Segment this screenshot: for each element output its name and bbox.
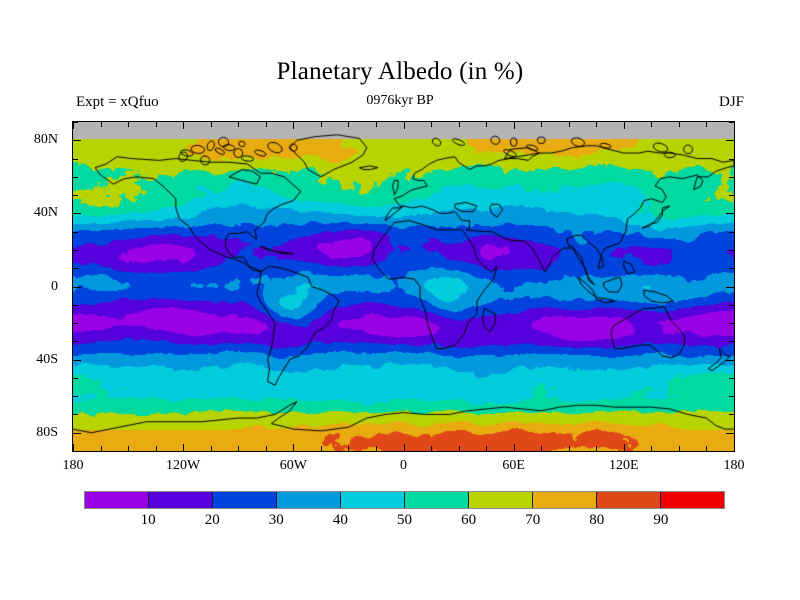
x-tick (431, 122, 432, 127)
x-tick (348, 446, 349, 451)
x-tick (541, 122, 542, 127)
x-tick (486, 122, 487, 127)
colorbar-tick-label: 80 (589, 512, 604, 529)
x-tick (596, 122, 597, 127)
y-tick (73, 250, 78, 251)
x-tick (651, 446, 652, 451)
y-tick (726, 213, 734, 214)
y-tick (73, 360, 81, 361)
y-axis-label: 80S (36, 425, 58, 441)
x-tick (486, 446, 487, 451)
x-tick (541, 446, 542, 451)
y-tick (729, 305, 734, 306)
y-tick (729, 177, 734, 178)
x-axis-label: 60W (280, 458, 307, 474)
y-tick (729, 250, 734, 251)
x-tick (183, 444, 184, 451)
x-tick (624, 444, 625, 451)
y-tick (729, 341, 734, 342)
x-axis-label: 60E (502, 458, 525, 474)
x-tick (321, 122, 322, 127)
y-tick (726, 360, 734, 361)
colorbar-tick-label: 20 (205, 512, 220, 529)
colorbar-band (533, 492, 597, 508)
y-tick (729, 396, 734, 397)
x-tick (651, 122, 652, 127)
x-tick (266, 122, 267, 127)
y-tick (73, 195, 78, 196)
y-tick (73, 341, 78, 342)
page-title: Planetary Albedo (in %) (0, 58, 800, 86)
x-axis-label: 0 (400, 458, 407, 474)
colorbar-band (213, 492, 277, 508)
x-axis-label: 180 (724, 458, 745, 474)
x-tick (431, 446, 432, 451)
x-tick (734, 444, 735, 451)
y-tick (73, 305, 78, 306)
x-tick (238, 122, 239, 127)
x-tick (156, 446, 157, 451)
y-tick (729, 323, 734, 324)
y-axis-label: 40N (34, 205, 58, 221)
y-tick (73, 414, 78, 415)
x-tick (569, 122, 570, 127)
x-tick (679, 446, 680, 451)
x-tick (238, 446, 239, 451)
y-tick (729, 195, 734, 196)
x-tick (706, 122, 707, 127)
x-tick (183, 122, 184, 129)
y-tick (73, 177, 78, 178)
y-axis-label: 0 (51, 279, 58, 295)
y-tick (73, 159, 78, 160)
colorbar-tick-label: 10 (141, 512, 156, 529)
x-tick (679, 122, 680, 127)
x-axis-label: 120E (609, 458, 639, 474)
colorbar-band (469, 492, 533, 508)
x-axis-label: 120W (166, 458, 200, 474)
x-tick (706, 446, 707, 451)
y-tick (73, 396, 78, 397)
x-tick (321, 446, 322, 451)
x-tick (404, 122, 405, 129)
x-tick (73, 122, 74, 129)
y-tick (73, 268, 78, 269)
colorbar-band (661, 492, 724, 508)
x-tick (348, 122, 349, 127)
experiment-label: Expt = xQfuo (76, 94, 159, 111)
x-tick (596, 446, 597, 451)
y-tick (73, 287, 81, 288)
x-tick (101, 122, 102, 127)
colorbar-tick-label: 60 (461, 512, 476, 529)
colorbar (84, 491, 725, 509)
albedo-map-canvas (73, 122, 734, 451)
x-tick (734, 122, 735, 129)
colorbar-band (149, 492, 213, 508)
y-tick (729, 378, 734, 379)
y-axis-label: 40S (36, 352, 58, 368)
y-tick (73, 433, 81, 434)
y-tick (73, 122, 78, 123)
x-tick (293, 122, 294, 129)
x-tick (101, 446, 102, 451)
colorbar-band (277, 492, 341, 508)
colorbar-band (597, 492, 661, 508)
x-tick (293, 444, 294, 451)
map-plot-area (72, 121, 735, 452)
x-tick (404, 444, 405, 451)
x-tick (376, 122, 377, 127)
x-tick (459, 446, 460, 451)
y-tick (729, 451, 734, 452)
x-tick (266, 446, 267, 451)
y-tick (726, 433, 734, 434)
x-tick (459, 122, 460, 127)
y-tick (729, 159, 734, 160)
colorbar-tick-label: 40 (333, 512, 348, 529)
colorbar-band (85, 492, 149, 508)
colorbar-tick-label: 50 (397, 512, 412, 529)
x-tick (624, 122, 625, 129)
x-tick (514, 122, 515, 129)
x-tick (376, 446, 377, 451)
x-tick (514, 444, 515, 451)
colorbar-band (405, 492, 469, 508)
x-tick (73, 444, 74, 451)
x-tick (156, 122, 157, 127)
y-tick (73, 213, 81, 214)
colorbar-tick-label: 90 (653, 512, 668, 529)
season-label: DJF (719, 94, 744, 111)
x-tick (128, 446, 129, 451)
x-tick (569, 446, 570, 451)
y-axis-label: 80N (34, 132, 58, 148)
colorbar-band (341, 492, 405, 508)
x-axis-label: 180 (63, 458, 84, 474)
colorbar-tick-label: 70 (525, 512, 540, 529)
y-tick (729, 414, 734, 415)
y-tick (729, 122, 734, 123)
albedo-figure: Planetary Albedo (in %) 0976kyr BP Expt … (0, 0, 800, 600)
x-tick (211, 122, 212, 127)
y-tick (73, 451, 78, 452)
colorbar-tick-label: 30 (269, 512, 284, 529)
y-tick (729, 268, 734, 269)
y-tick (726, 140, 734, 141)
y-tick (73, 378, 78, 379)
y-tick (729, 232, 734, 233)
x-tick (128, 122, 129, 127)
x-tick (211, 446, 212, 451)
y-tick (73, 140, 81, 141)
y-tick (73, 323, 78, 324)
y-tick (726, 287, 734, 288)
y-tick (73, 232, 78, 233)
